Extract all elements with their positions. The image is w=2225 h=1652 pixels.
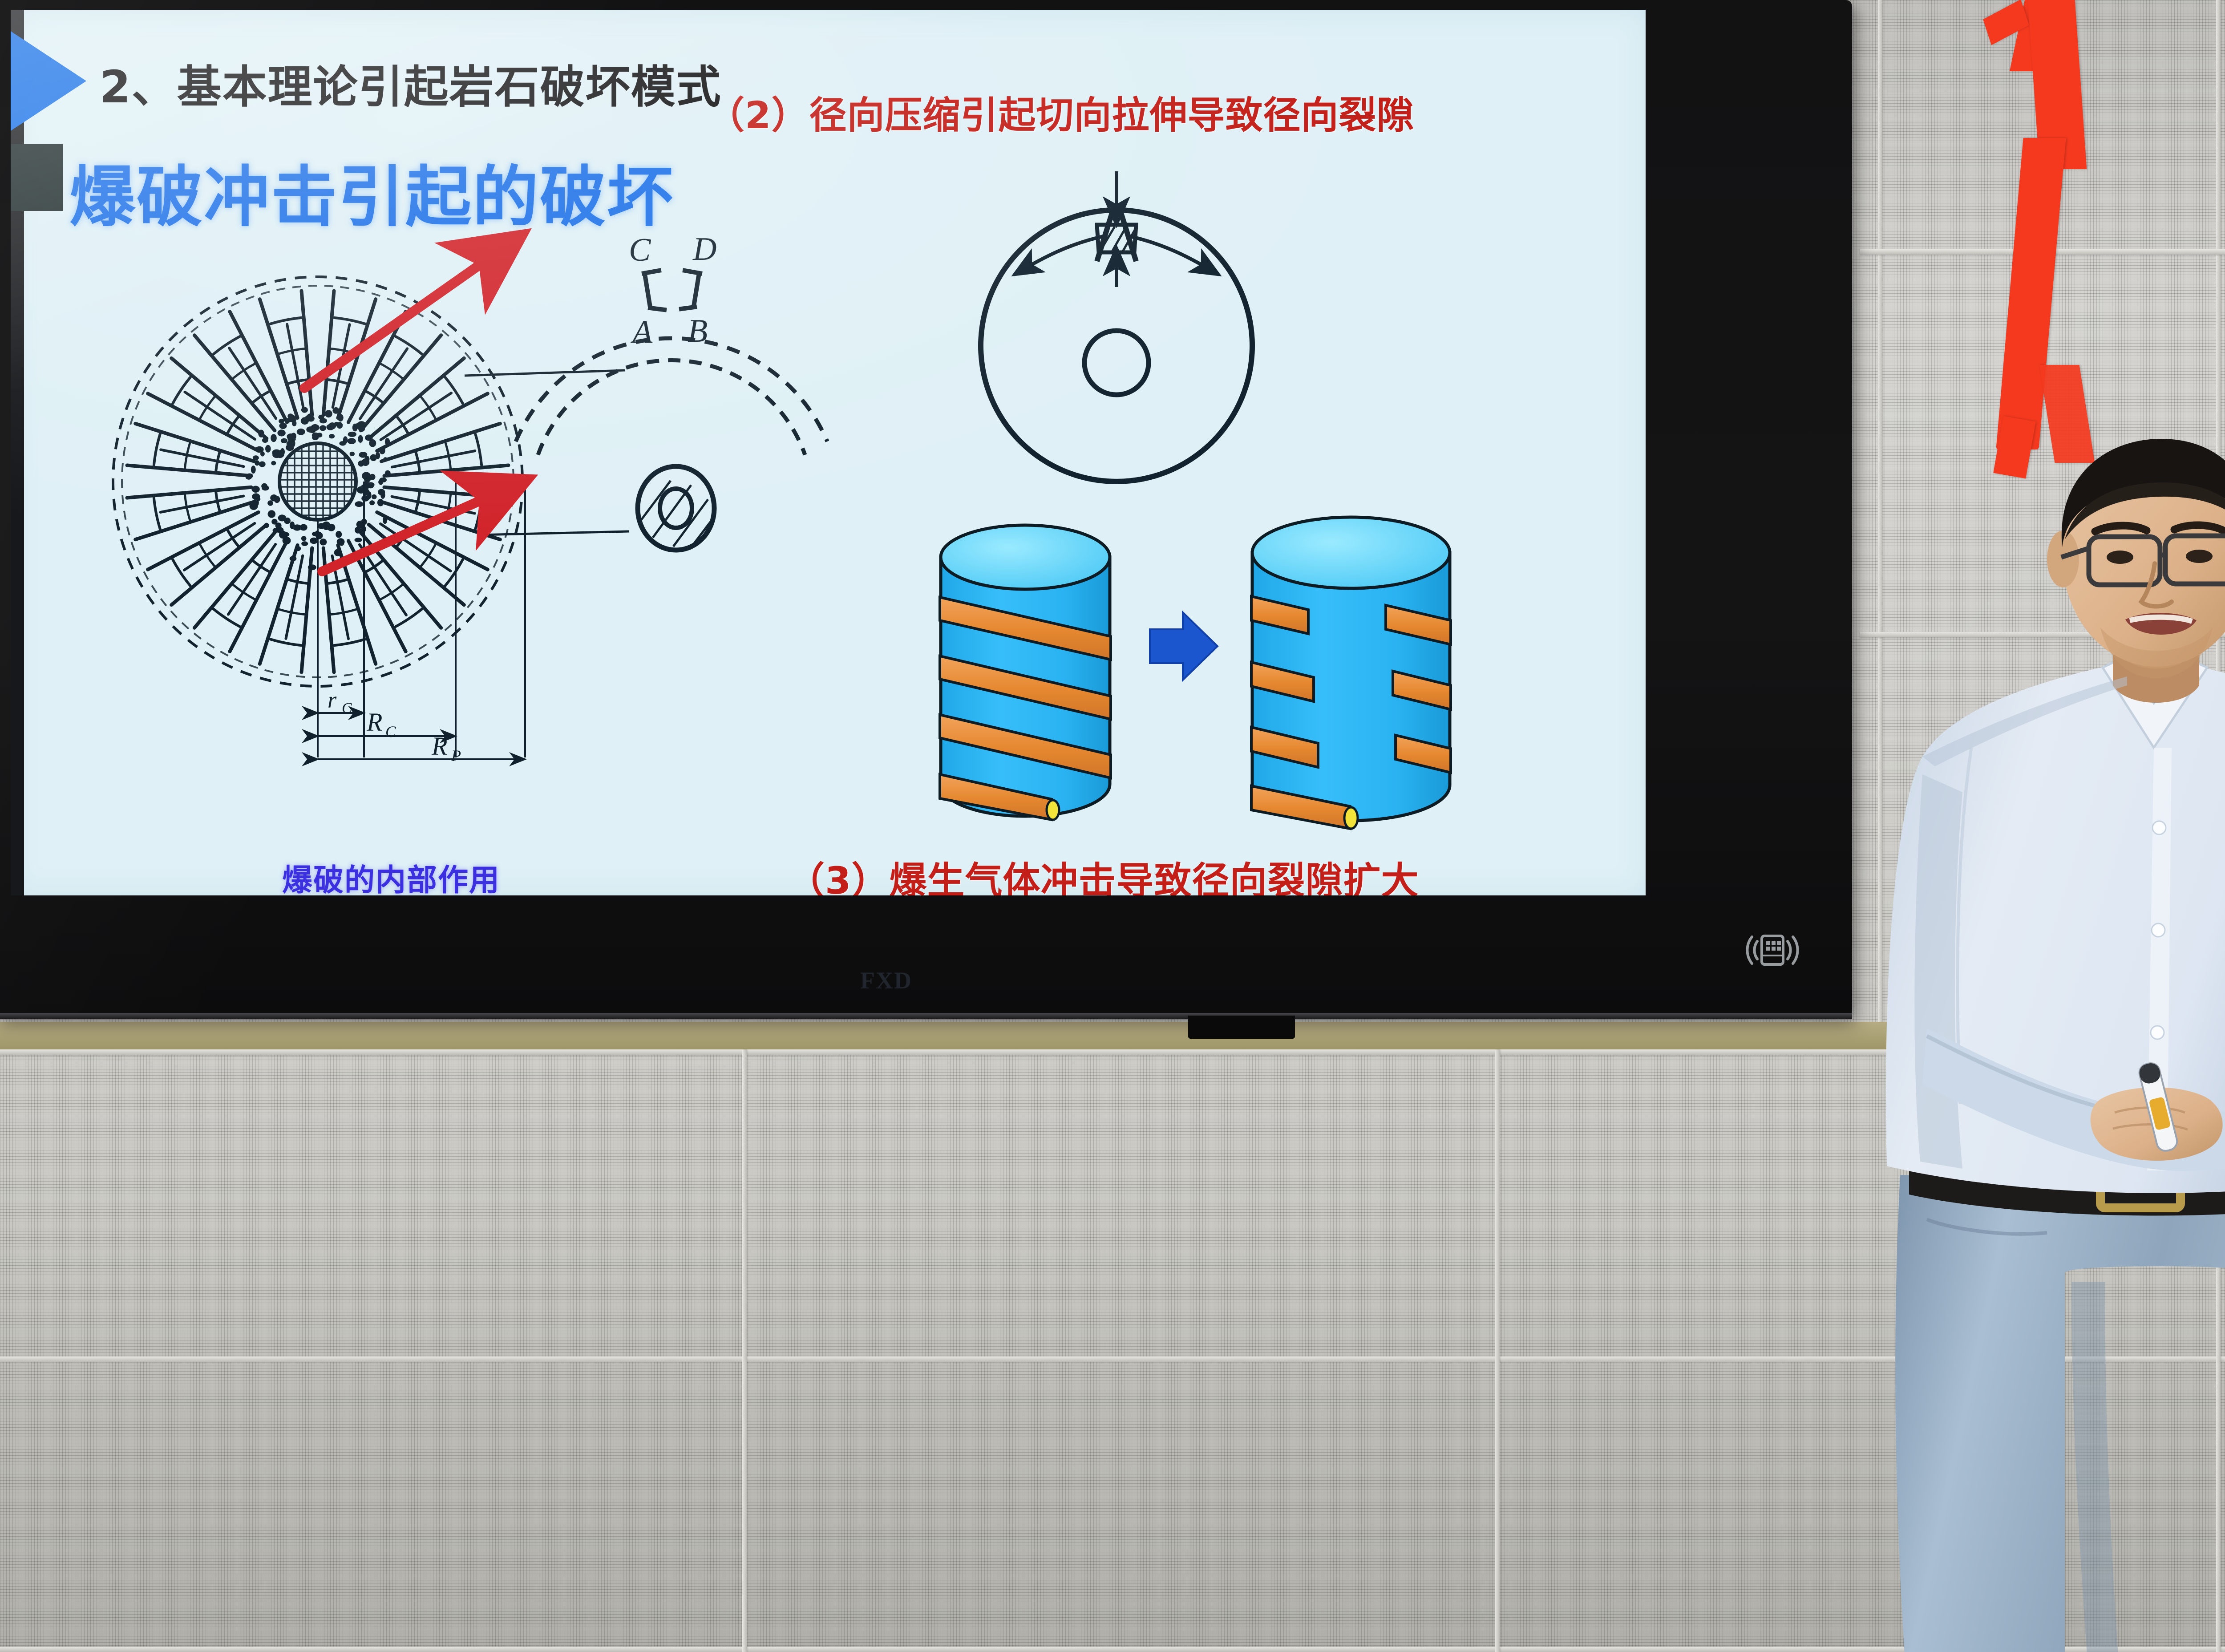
cylinder-before [940, 525, 1111, 820]
wall-seam-vertical [742, 1049, 747, 1652]
gas-expansion-cylinder-pair [940, 517, 1451, 829]
svg-text:R: R [366, 708, 382, 737]
svg-text:P: P [451, 747, 461, 765]
wireless-screen-cast-icon[interactable] [1732, 928, 1812, 972]
presenter [1816, 436, 2225, 1652]
transition-arrow-icon [1150, 612, 1218, 680]
svg-text:r: r [328, 688, 337, 713]
radial-compression-circle-diagram [981, 171, 1252, 482]
head [2047, 439, 2225, 678]
jeans [1895, 1175, 2225, 1652]
slide-graphics: rC RC RP [11, 10, 1646, 895]
display-screen[interactable]: 2、基本理论引起岩石破坏模式 爆破冲击引起的破坏 （2）径向压缩引起切向拉伸导致… [11, 10, 1646, 895]
presentation-slide: 2、基本理论引起岩石破坏模式 爆破冲击引起的破坏 （2）径向压缩引起切向拉伸导致… [11, 10, 1646, 895]
display-bottom-rail [0, 1013, 1852, 1019]
radial-crack-zone-diagram: rC RC RP [113, 277, 629, 765]
cylinder-after [1251, 517, 1451, 829]
svg-text:R: R [431, 732, 447, 761]
svg-text:D: D [692, 231, 716, 267]
interactive-flat-panel-display[interactable]: 2、基本理论引起岩石破坏模式 爆破冲击引起的破坏 （2）径向压缩引起切向拉伸导致… [0, 0, 1852, 1019]
svg-text:C: C [342, 700, 352, 717]
svg-text:C: C [385, 723, 396, 741]
tangential-stretch-element-diagram: C D A B [516, 231, 827, 550]
screenshot-root: 2、基本理论引起岩石破坏模式 爆破冲击引起的破坏 （2）径向压缩引起切向拉伸导致… [0, 0, 2225, 1652]
svg-text:C: C [629, 232, 651, 268]
wall-seam-vertical [1495, 1049, 1500, 1652]
svg-text:B: B [688, 313, 708, 349]
display-brand-logo: FXD [860, 967, 912, 994]
svg-text:A: A [630, 314, 653, 350]
display-stand-block [1188, 1016, 1295, 1039]
